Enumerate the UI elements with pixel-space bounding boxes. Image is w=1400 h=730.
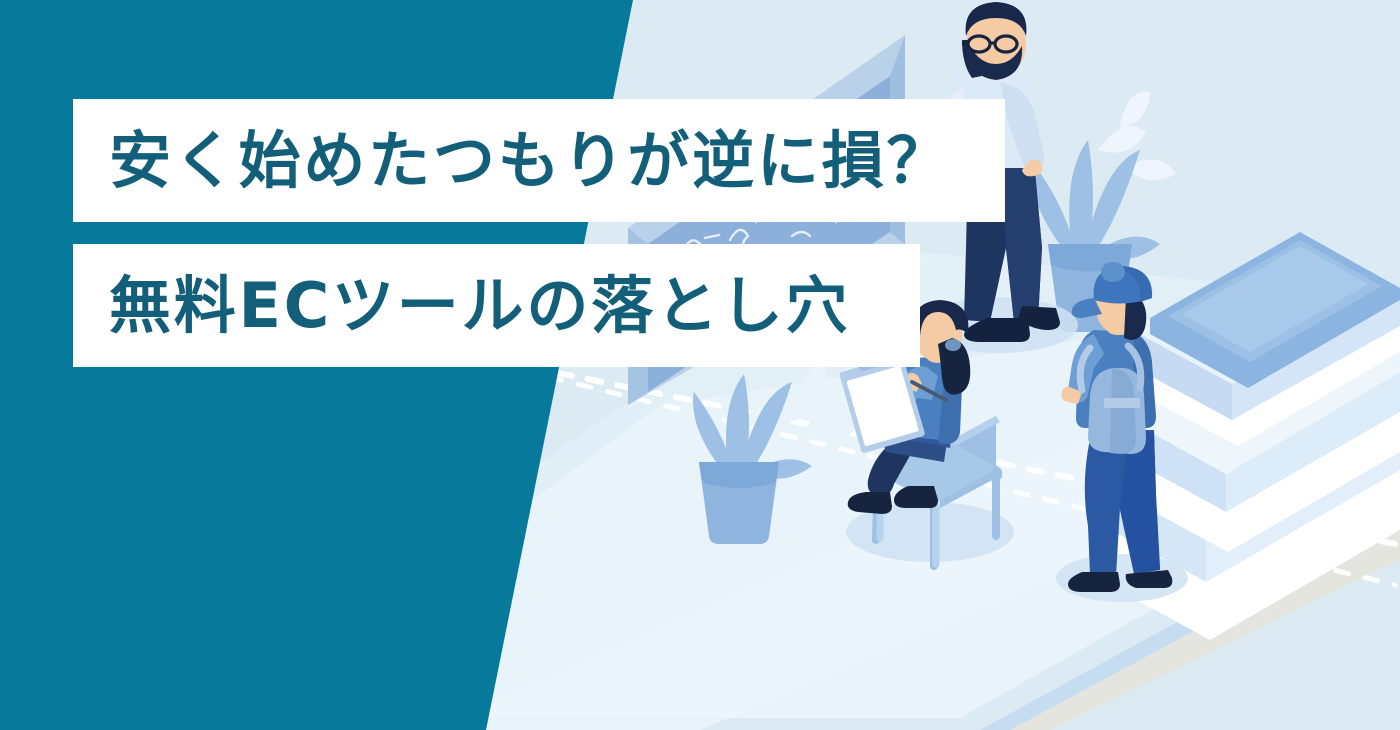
headline-block: 安く始めたつもりが逆に損？ 無料ECツールの落とし穴 <box>73 99 1005 367</box>
headline-box-line2: 無料ECツールの落とし穴 <box>73 244 920 367</box>
banner-canvas: 安く始めたつもりが逆に損？ 無料ECツールの落とし穴 <box>0 0 1400 730</box>
headline-line1-text: 安く始めたつもりが逆に損？ <box>109 130 951 192</box>
headline-line2-text: 無料ECツールの落とし穴 <box>109 275 850 337</box>
headline-box-line1: 安く始めたつもりが逆に損？ <box>73 99 1005 222</box>
